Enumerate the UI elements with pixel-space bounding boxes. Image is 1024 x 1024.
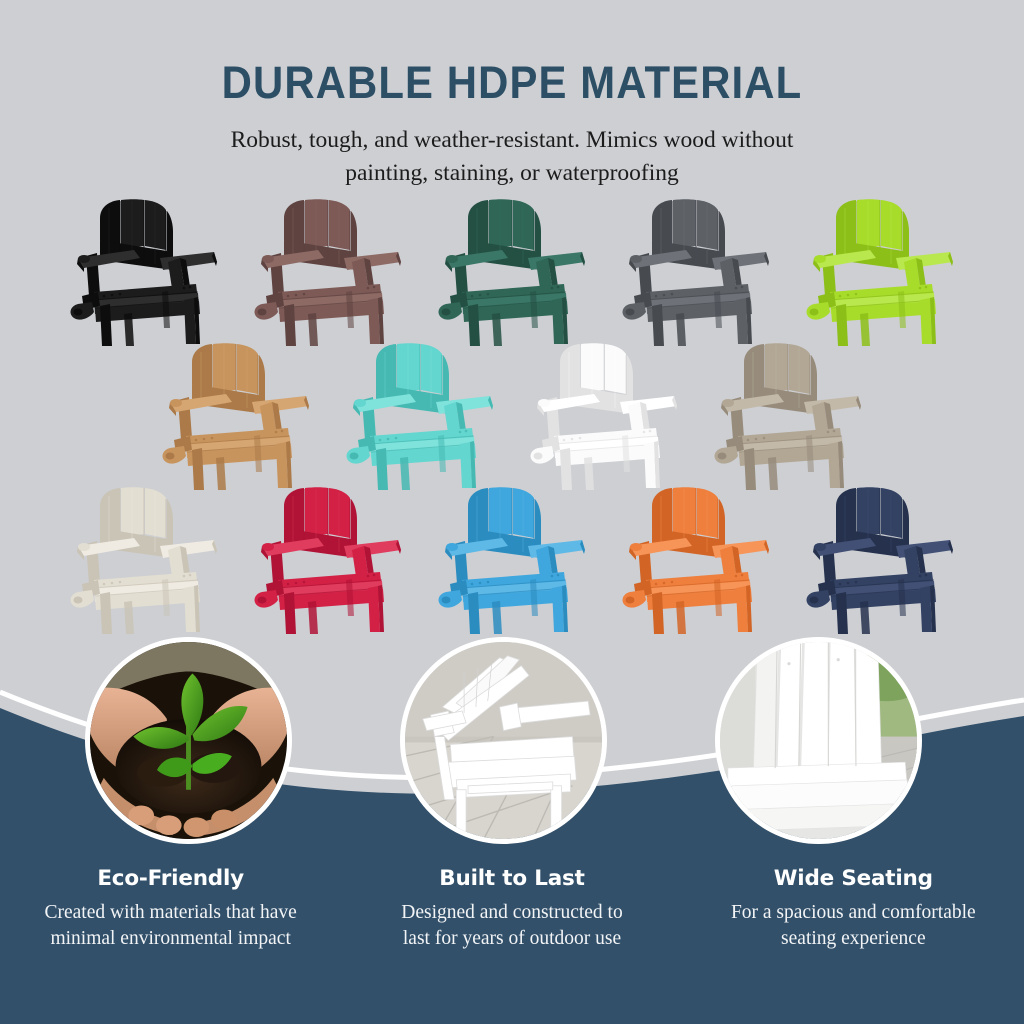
feature-wide-seating: Wide Seating For a spacious and comforta… — [683, 866, 1024, 952]
chair-swatch-white[interactable] — [524, 340, 684, 490]
chair-swatch-orange[interactable] — [616, 484, 776, 634]
feature-description: Designed and constructed to last for yea… — [353, 891, 670, 952]
chair-row-3 — [0, 484, 1024, 634]
feature-desc-line-1: For a spacious and comfortable — [731, 902, 976, 923]
feature-description: For a spacious and comfortable seating e… — [695, 891, 1012, 952]
subtitle-line-2: painting, staining, or waterproofing — [345, 160, 679, 186]
chair-color-grid — [0, 196, 1024, 634]
feature-desc-line-2: seating experience — [781, 928, 926, 949]
chair-swatch-brown[interactable] — [248, 196, 408, 346]
chair-swatch-light-blue[interactable] — [432, 484, 592, 634]
feature-built-to-last: Built to Last Designed and constructed t… — [341, 866, 682, 952]
chair-swatch-black[interactable] — [64, 196, 224, 346]
feature-desc-line-1: Designed and constructed to — [401, 902, 622, 923]
subtitle-line-1: Robust, tough, and weather-resistant. Mi… — [231, 127, 794, 153]
page-title: DURABLE HDPE MATERIAL — [36, 0, 988, 105]
header: DURABLE HDPE MATERIAL Robust, tough, and… — [0, 0, 1024, 191]
feature-title: Built to Last — [353, 866, 670, 891]
feature-eco-friendly: Eco-Friendly Created with materials that… — [0, 866, 341, 952]
feature-title: Eco-Friendly — [12, 866, 329, 891]
chair-swatch-teak[interactable] — [156, 340, 316, 490]
infographic-page: DURABLE HDPE MATERIAL Robust, tough, and… — [0, 0, 1024, 1024]
chair-swatch-gray[interactable] — [616, 196, 776, 346]
feature-description: Created with materials that have minimal… — [12, 891, 329, 952]
chair-swatch-turquoise[interactable] — [340, 340, 500, 490]
feature-title: Wide Seating — [695, 866, 1012, 891]
feature-list: Eco-Friendly Created with materials that… — [0, 866, 1024, 952]
chair-swatch-dark-green[interactable] — [432, 196, 592, 346]
chair-swatch-lime-green[interactable] — [800, 196, 960, 346]
feature-desc-line-2: last for years of outdoor use — [403, 928, 621, 949]
feature-desc-line-1: Created with materials that have — [45, 902, 297, 923]
chair-swatch-crimson-red[interactable] — [248, 484, 408, 634]
chair-row-2 — [0, 340, 1024, 490]
chair-row-1 — [0, 196, 1024, 346]
chair-swatch-ivory[interactable] — [64, 484, 224, 634]
feature-desc-line-2: minimal environmental impact — [50, 928, 290, 949]
page-subtitle: Robust, tough, and weather-resistant. Mi… — [0, 105, 1024, 191]
chair-swatch-weathered-wood[interactable] — [708, 340, 868, 490]
chair-swatch-navy-blue[interactable] — [800, 484, 960, 634]
wave-divider — [0, 620, 1024, 1024]
